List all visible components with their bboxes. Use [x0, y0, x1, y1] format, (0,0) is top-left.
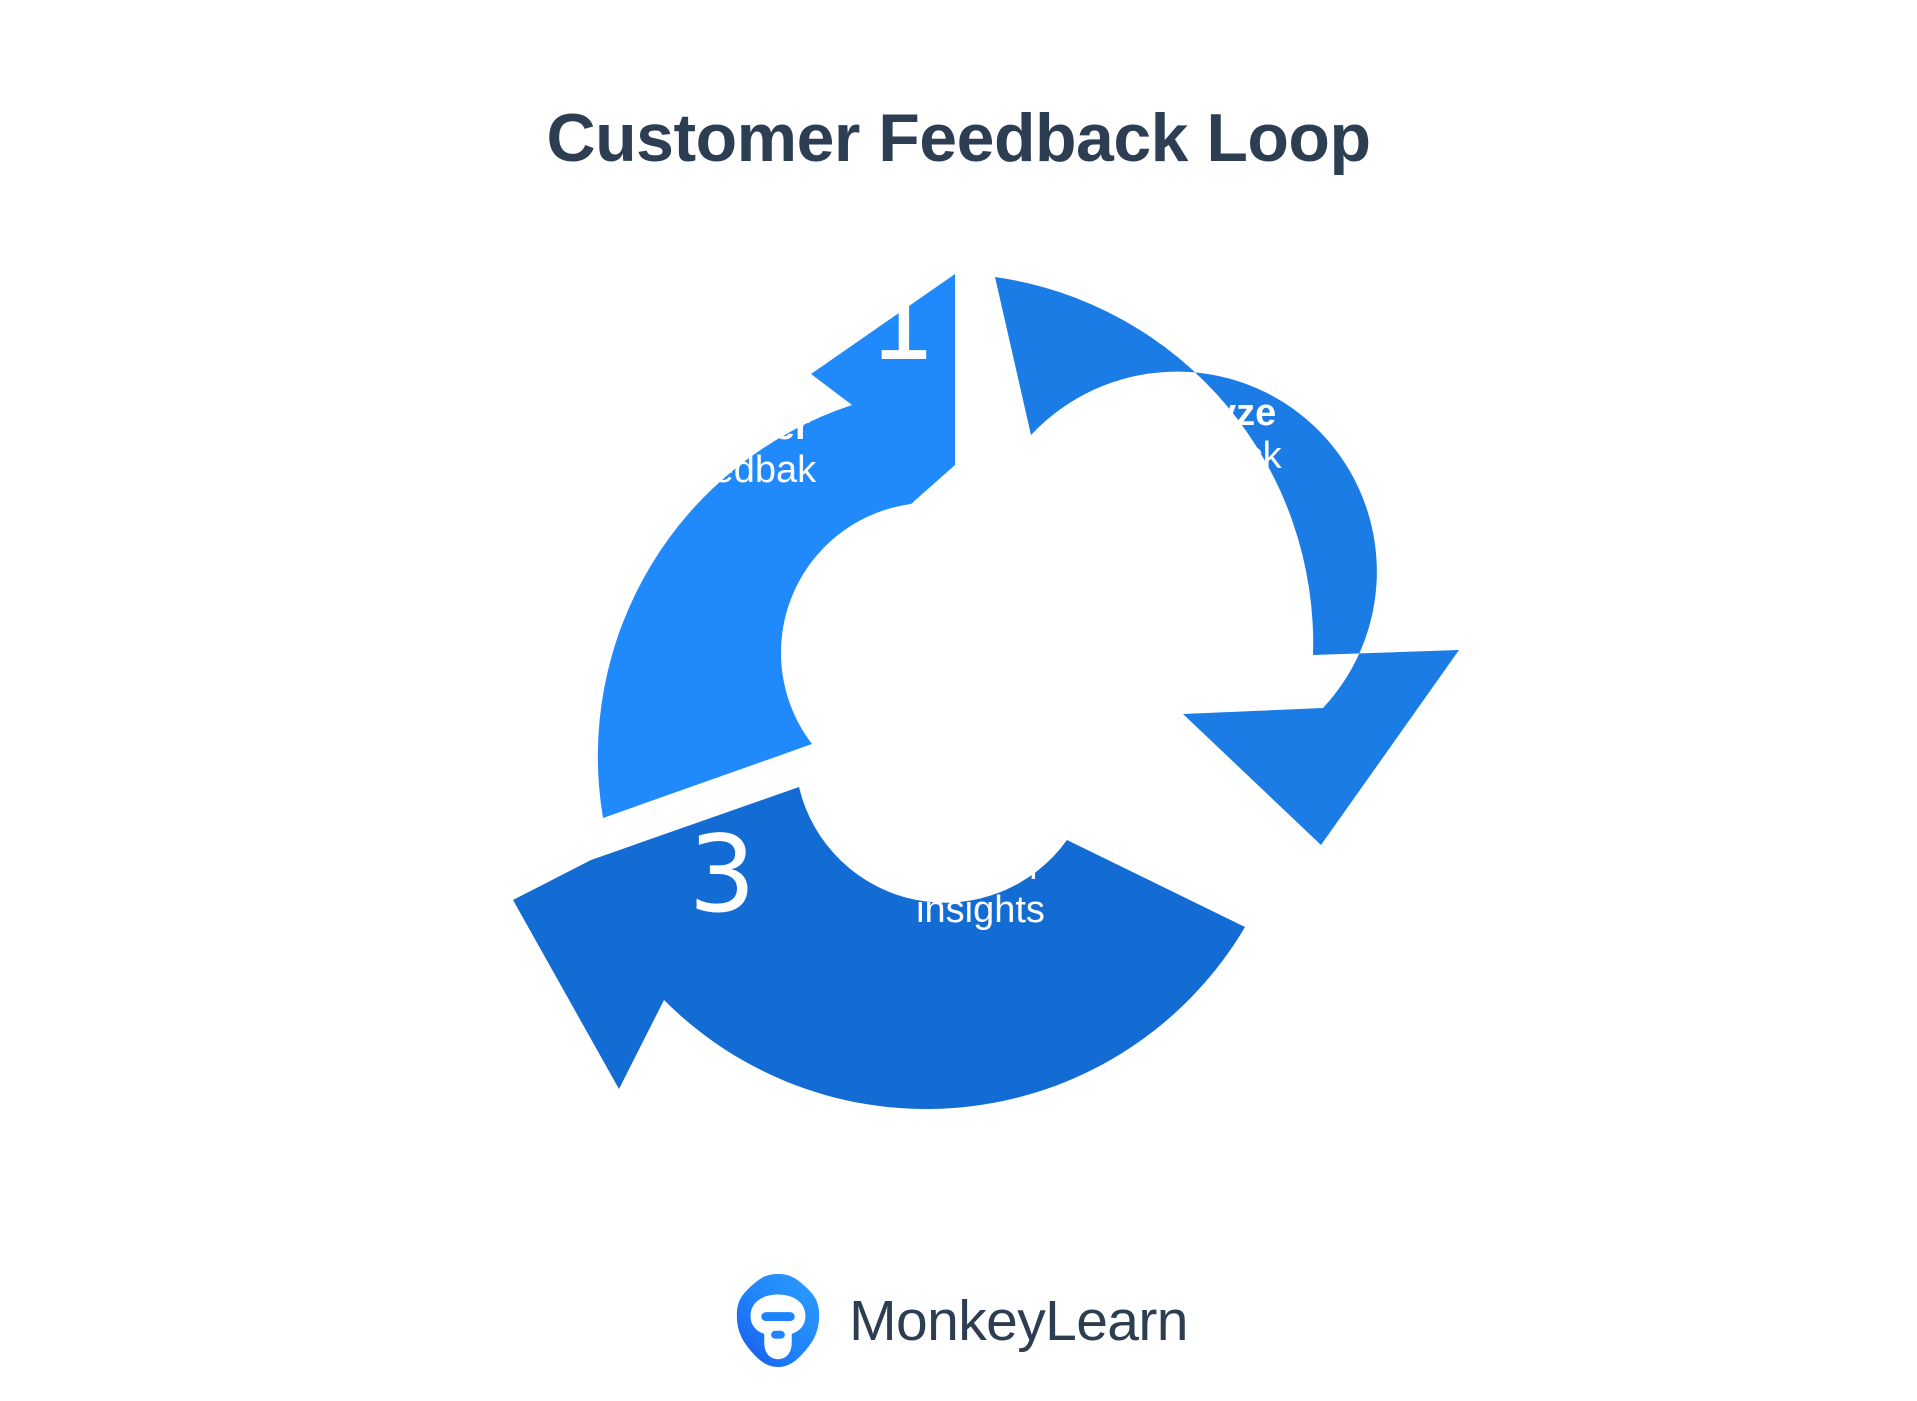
cycle-arrows-svg [459, 214, 1459, 1114]
step-label-3-rest-inline: on [985, 846, 1038, 888]
brand-name: MonkeyLearn [849, 1293, 1188, 1350]
step-label-3-lead: Act [923, 846, 984, 888]
arrow-segment-2[interactable] [995, 277, 1459, 845]
arrow-segment-3[interactable] [513, 787, 1245, 1109]
step-label-2: Analyze feedback [1075, 392, 1335, 479]
step-label-2-rest: feedback [1127, 435, 1281, 477]
poster-canvas: Customer Feedback Loop 1 2 3 Gather feed… [0, 0, 1917, 1401]
step-label-1: Gather feedbak [619, 406, 879, 493]
step-number-1: 1 [869, 270, 936, 376]
step-label-2-lead: Analyze [1133, 392, 1277, 434]
page-title: Customer Feedback Loop [546, 104, 1370, 172]
step-label-1-rest: feedbak [681, 449, 816, 491]
feedback-loop-diagram: 1 2 3 Gather feedbak Analyze feedback Ac… [459, 214, 1459, 1114]
step-label-3-rest: insights [916, 889, 1045, 931]
step-label-3: Act on insights [851, 846, 1111, 933]
monkeylearn-logo-icon [729, 1272, 827, 1370]
step-number-2: 2 [1099, 720, 1166, 826]
step-label-1-lead: Gather [687, 406, 809, 448]
brand-footer: MonkeyLearn [0, 1272, 1917, 1370]
step-number-3: 3 [689, 822, 756, 928]
